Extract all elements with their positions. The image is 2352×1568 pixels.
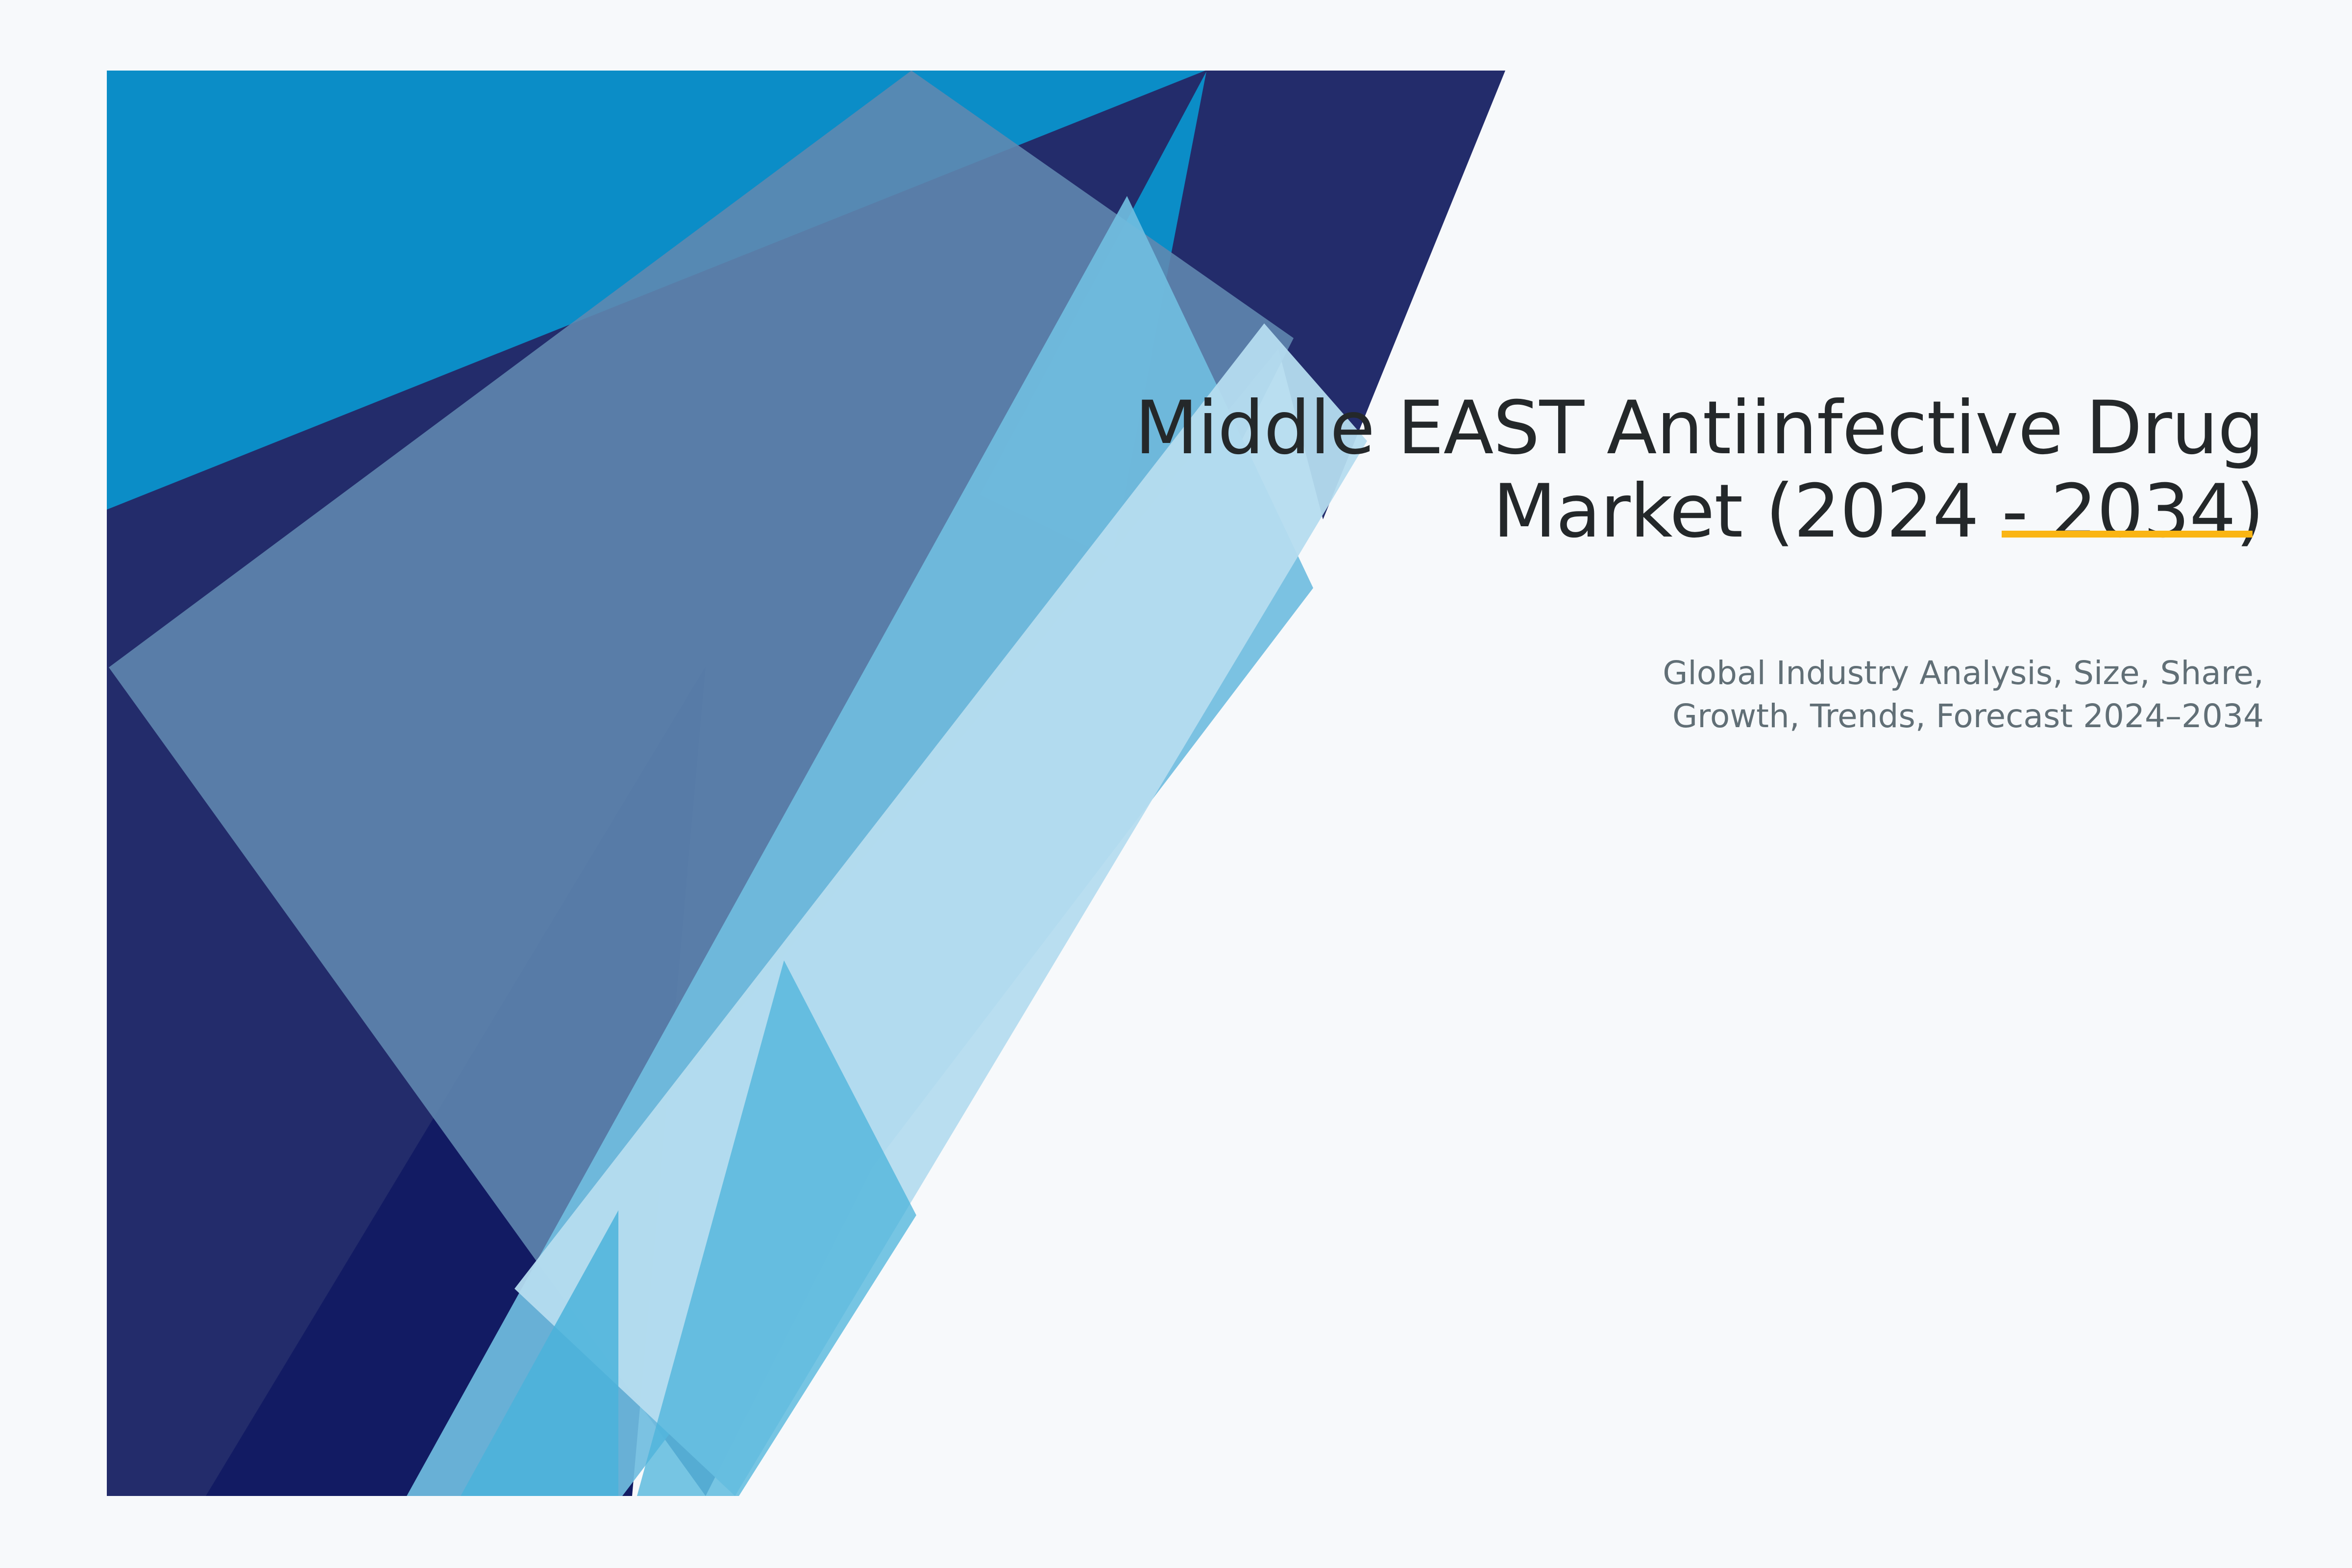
title-underline-accent: [2002, 531, 2253, 538]
page-title: Middle EAST Antiinfective Drug Market (2…: [1068, 387, 2264, 553]
abstract-geometric-artwork: [0, 0, 2352, 1568]
page-title-line-1: Middle EAST Antiinfective Drug: [1135, 386, 2264, 471]
page-subtitle-line-2: Growth, Trends, Forecast 2024–2034: [1672, 697, 2264, 735]
page-subtitle-line-1: Global Industry Analysis, Size, Share,: [1663, 654, 2264, 692]
page-title-line-2: Market (2024 - 2034): [1493, 469, 2264, 554]
page-subtitle: Global Industry Analysis, Size, Share, G…: [1068, 652, 2264, 738]
title-block: Middle EAST Antiinfective Drug Market (2…: [1068, 387, 2264, 553]
cover-page: Middle EAST Antiinfective Drug Market (2…: [0, 0, 2352, 1568]
